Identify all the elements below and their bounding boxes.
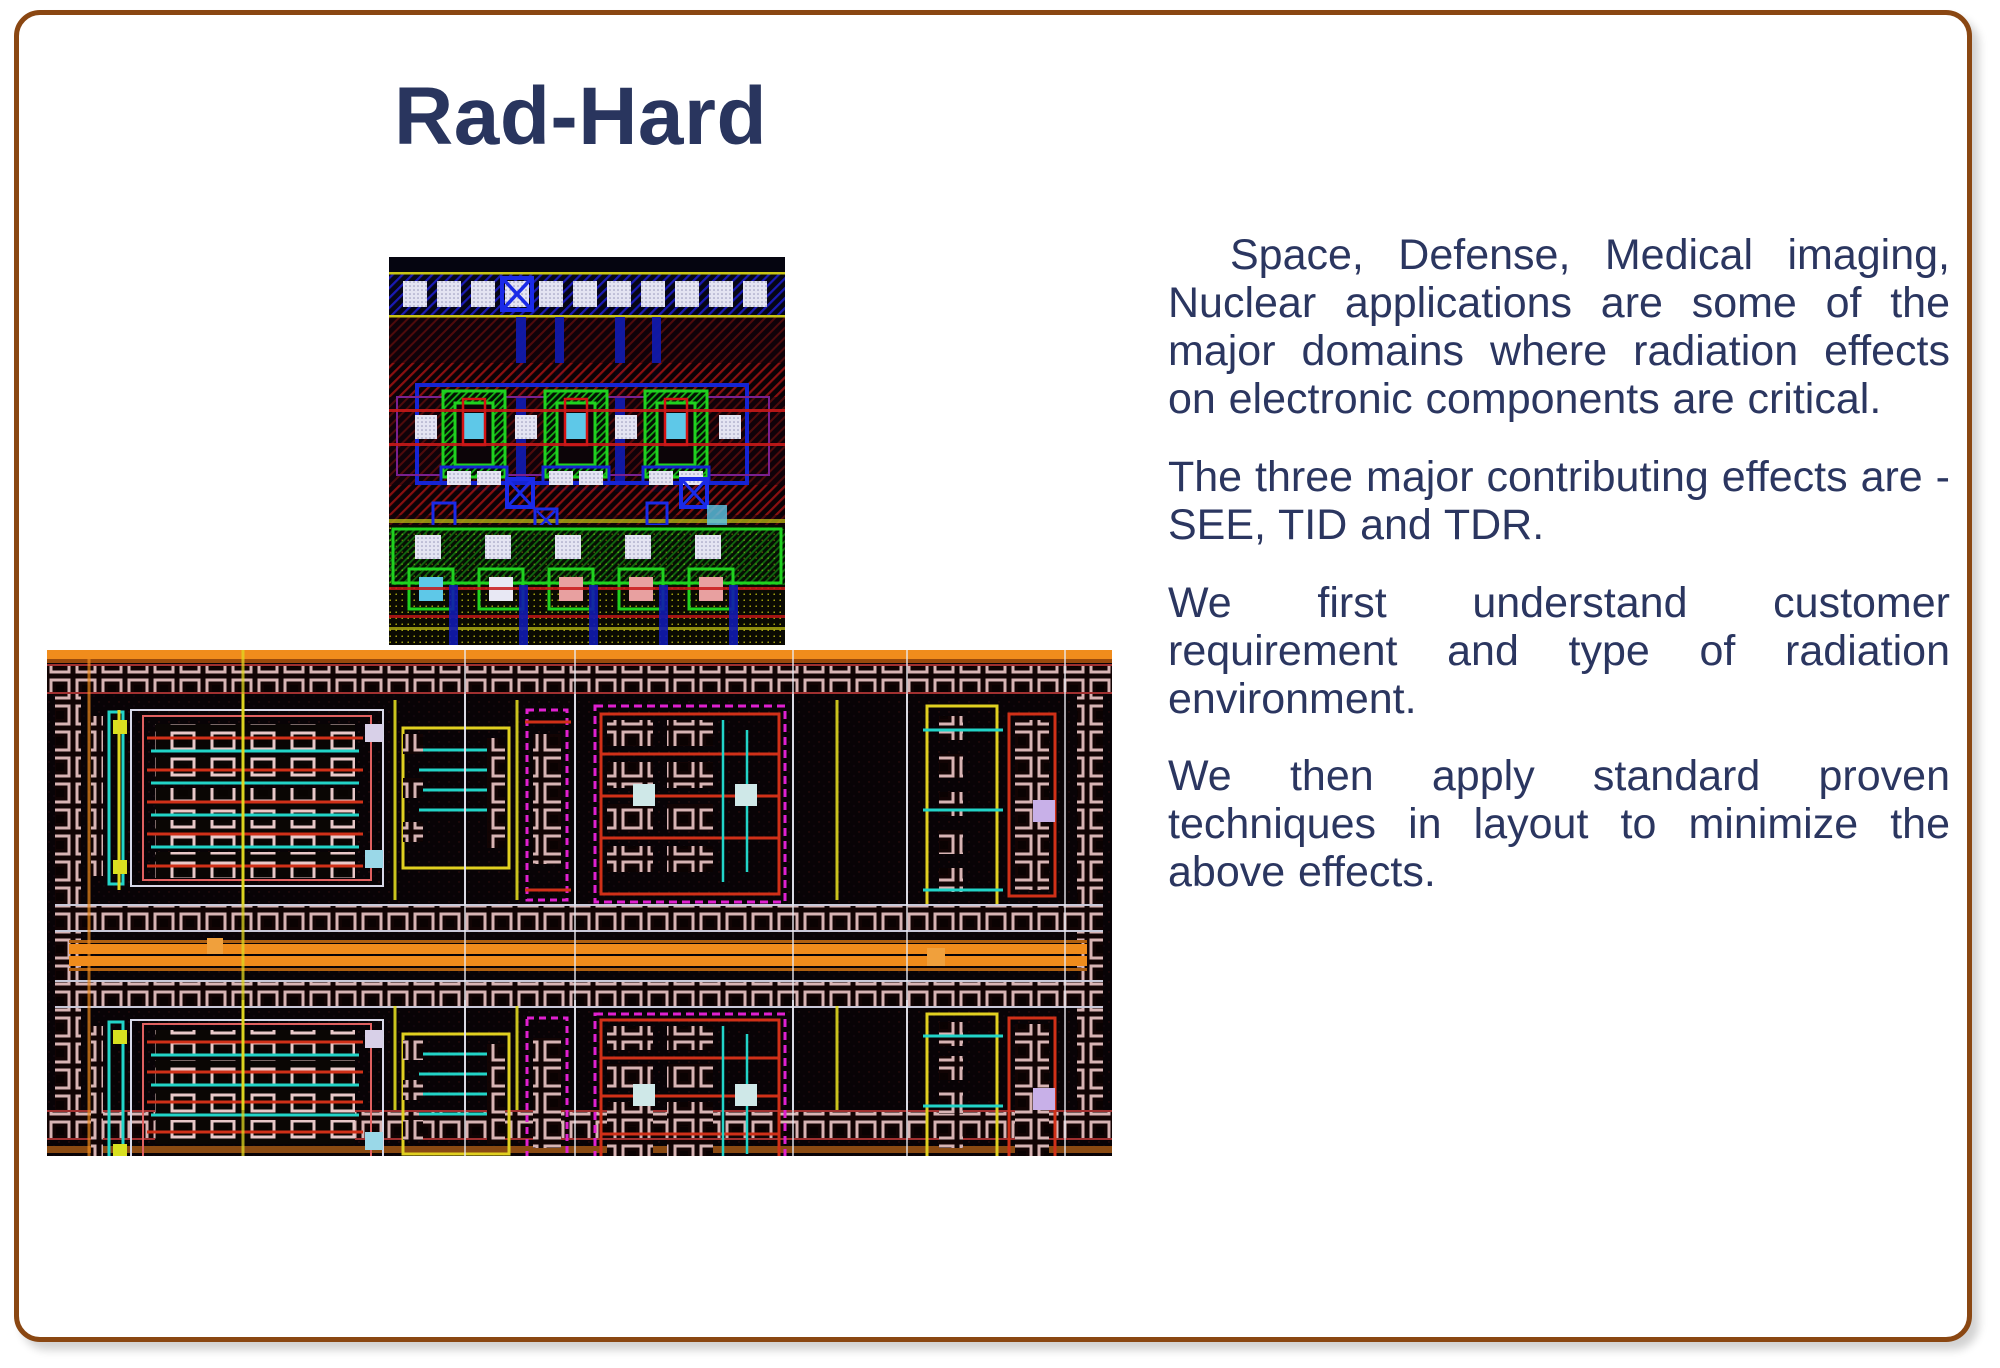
- slide-root: Rad-Hard: [0, 0, 2000, 1368]
- contact-row-top: [403, 281, 767, 307]
- central-power-bus: [55, 904, 1103, 1008]
- ic-layout-bottom-canvas: [47, 650, 1112, 1156]
- paragraph-2: The three major contributing effects are…: [1168, 454, 1950, 550]
- paragraph-4: We then apply standard proven techniques…: [1168, 753, 1950, 897]
- ic-layout-full-cell-array-figure: [47, 650, 1112, 1156]
- paragraph-1: Space, Defense, Medical imaging, Nuclear…: [1168, 232, 1950, 424]
- ic-layout-top-canvas: [389, 257, 785, 645]
- paragraph-3: We first understand customer requirement…: [1168, 580, 1950, 724]
- ic-layout-enclosed-gate-transistors-figure: [389, 257, 785, 645]
- body-text-column: Space, Defense, Medical imaging, Nuclear…: [1168, 232, 1950, 897]
- page-title: Rad-Hard: [394, 74, 767, 160]
